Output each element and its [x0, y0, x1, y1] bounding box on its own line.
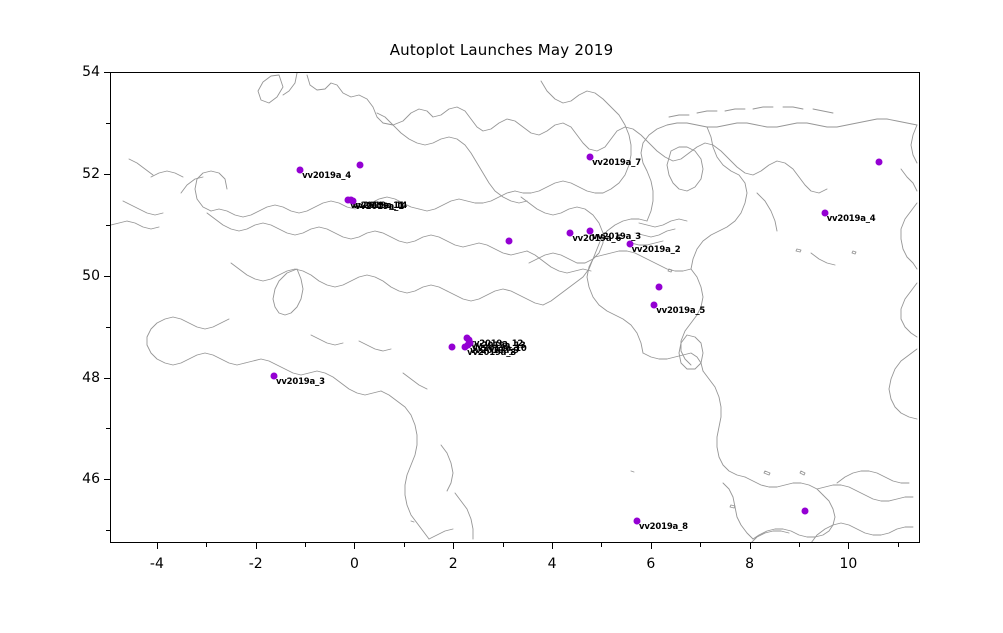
- data-point-label: vv2019a_8: [467, 348, 516, 358]
- x-tick-major: [750, 543, 751, 549]
- data-point-label: vv2019a_8: [639, 522, 688, 532]
- x-tick-major: [354, 543, 355, 549]
- x-tick-label: 8: [745, 556, 754, 572]
- x-tick-minor: [898, 543, 899, 547]
- chart-title: Autoplot Launches May 2019: [0, 41, 1003, 59]
- plot-area: vv2019a_4vv2019a_11vv2019a_14vv2019a_1vv…: [110, 72, 920, 543]
- y-tick-label: 48: [60, 370, 100, 386]
- x-tick-minor: [601, 543, 602, 547]
- data-point[interactable]: [801, 507, 808, 514]
- x-tick-major: [453, 543, 454, 549]
- x-tick-label: 0: [350, 556, 359, 572]
- data-point-label: vv2019a_2: [632, 245, 681, 255]
- x-tick-major: [848, 543, 849, 549]
- x-tick-major: [552, 543, 553, 549]
- y-tick-label: 50: [60, 268, 100, 284]
- data-point-label: vv2019a_4: [827, 214, 876, 224]
- y-tick-minor: [106, 428, 110, 429]
- data-point[interactable]: [505, 238, 512, 245]
- x-tick-label: 10: [839, 556, 857, 572]
- data-point-label: vv2019a_7: [592, 158, 641, 168]
- x-tick-label: 4: [548, 556, 557, 572]
- data-point[interactable]: [656, 283, 663, 290]
- data-point-label: vv2019a_3: [276, 377, 325, 387]
- x-tick-major: [256, 543, 257, 549]
- x-tick-label: -2: [249, 556, 263, 572]
- y-tick-major: [104, 174, 110, 175]
- data-point-label: vv2019a_3: [592, 232, 641, 242]
- x-tick-major: [651, 543, 652, 549]
- data-point[interactable]: [876, 159, 883, 166]
- y-tick-major: [104, 72, 110, 73]
- data-point-label: vv2019a_5: [656, 306, 705, 316]
- y-tick-major: [104, 276, 110, 277]
- x-tick-minor: [503, 543, 504, 547]
- data-point[interactable]: [357, 161, 364, 168]
- x-tick-minor: [404, 543, 405, 547]
- x-tick-label: 2: [449, 556, 458, 572]
- chart-root: Autoplot Launches May 2019: [0, 0, 1003, 633]
- y-tick-major: [104, 479, 110, 480]
- data-point-label: vv2019a_1: [355, 202, 404, 212]
- x-tick-label: 6: [646, 556, 655, 572]
- y-tick-label: 54: [60, 64, 100, 80]
- y-tick-minor: [106, 225, 110, 226]
- x-tick-minor: [206, 543, 207, 547]
- y-tick-minor: [106, 530, 110, 531]
- x-tick-major: [157, 543, 158, 549]
- x-tick-minor: [305, 543, 306, 547]
- x-tick-minor: [700, 543, 701, 547]
- data-point[interactable]: [448, 343, 455, 350]
- y-tick-minor: [106, 123, 110, 124]
- data-point-label: vv2019a_4: [302, 171, 351, 181]
- y-tick-major: [104, 378, 110, 379]
- x-tick-minor: [799, 543, 800, 547]
- basemap-coastlines: [111, 73, 919, 542]
- y-tick-label: 52: [60, 166, 100, 182]
- y-tick-label: 46: [60, 471, 100, 487]
- x-tick-label: -4: [150, 556, 164, 572]
- y-tick-minor: [106, 327, 110, 328]
